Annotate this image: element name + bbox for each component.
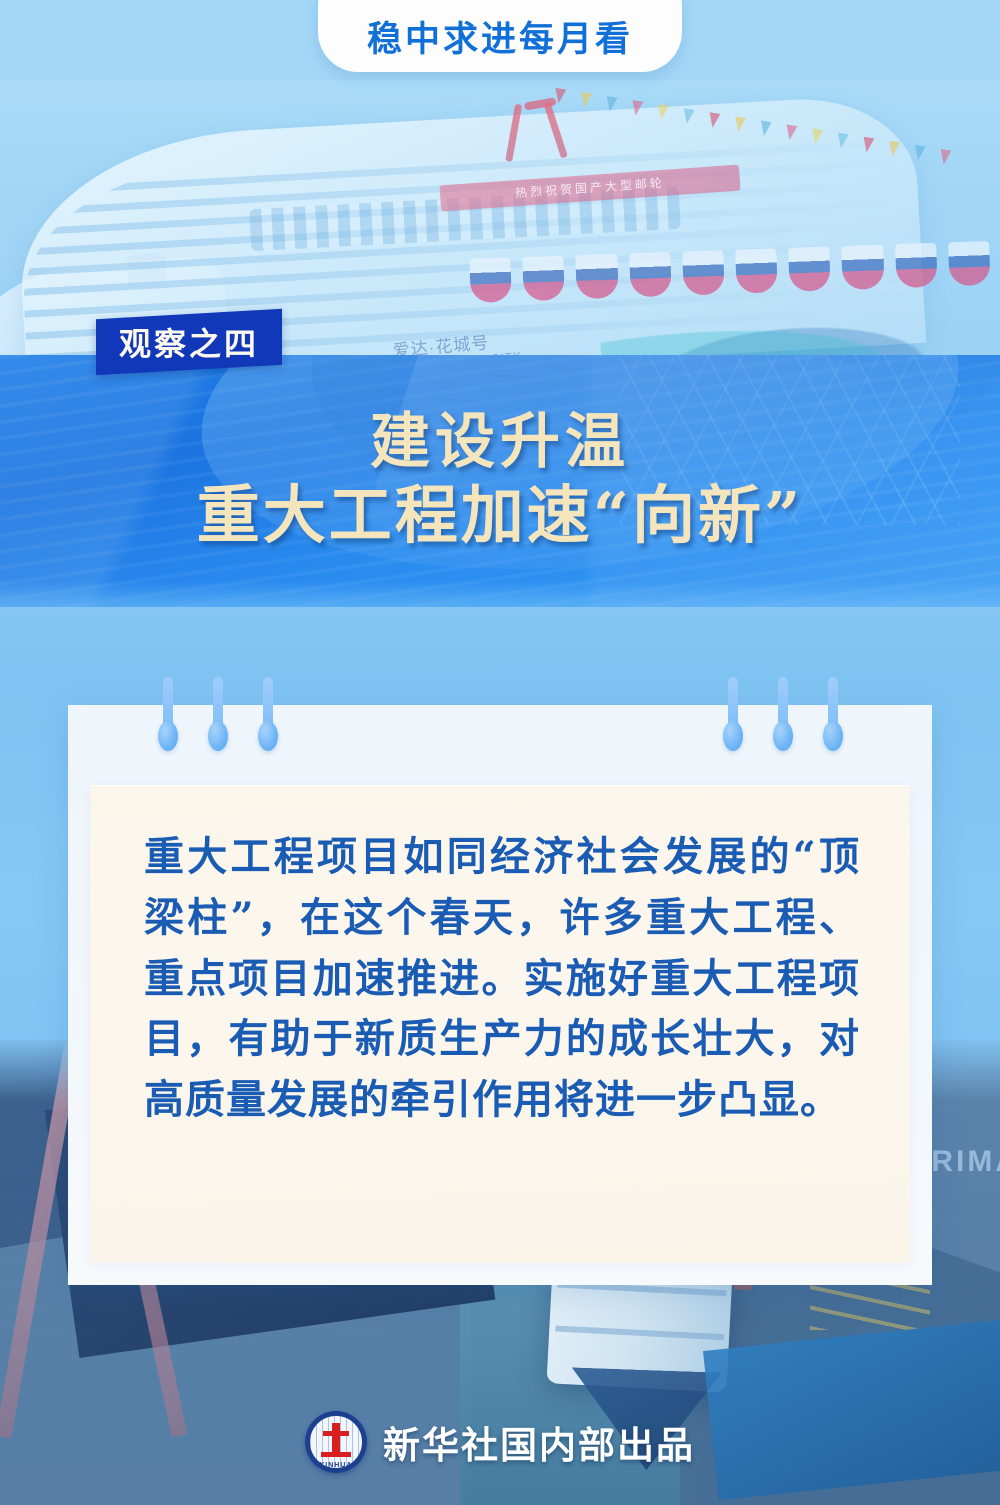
card-pin-row (68, 677, 932, 767)
footer: XINHUA 新华社国内部出品 (0, 1405, 1000, 1479)
section-label-text: 观察之四 (119, 319, 259, 365)
poster-root: 热烈祝贺国产大型邮轮 爱达·花城号 ADORA FLORA CITY 稳中求进每… (0, 0, 1000, 1505)
body-paragraph: 重大工程项目如同经济社会发展的“顶梁柱”，在这个春天，许多重大工程、重点项目加速… (144, 827, 860, 1131)
pin-4 (723, 677, 743, 755)
pin-6 (823, 677, 843, 755)
content-panel: 重大工程项目如同经济社会发展的“顶梁柱”，在这个春天，许多重大工程、重点项目加速… (90, 785, 910, 1263)
series-badge[interactable]: 稳中求进每月看 (318, 0, 682, 72)
headline-block: 建设升温 重大工程加速“向新” (0, 355, 1000, 607)
pin-5 (773, 677, 793, 755)
pin-1 (158, 677, 178, 755)
headline-band: 建设升温 重大工程加速“向新” (0, 355, 1000, 607)
pin-3 (258, 677, 278, 755)
xinhua-logo-icon: XINHUA (305, 1411, 367, 1473)
headline-line-1: 建设升温 (370, 411, 630, 474)
pin-2 (208, 677, 228, 755)
content-card: 重大工程项目如同经济社会发展的“顶梁柱”，在这个春天，许多重大工程、重点项目加速… (68, 705, 932, 1285)
footer-credit: 新华社国内部出品 (383, 1415, 695, 1469)
xinhua-logo-text: XINHUA (305, 1462, 367, 1469)
headline-line-2: 重大工程加速“向新” (197, 480, 803, 551)
section-label-banner: 观察之四 (96, 309, 282, 375)
series-badge-label: 稳中求进每月看 (367, 11, 633, 72)
